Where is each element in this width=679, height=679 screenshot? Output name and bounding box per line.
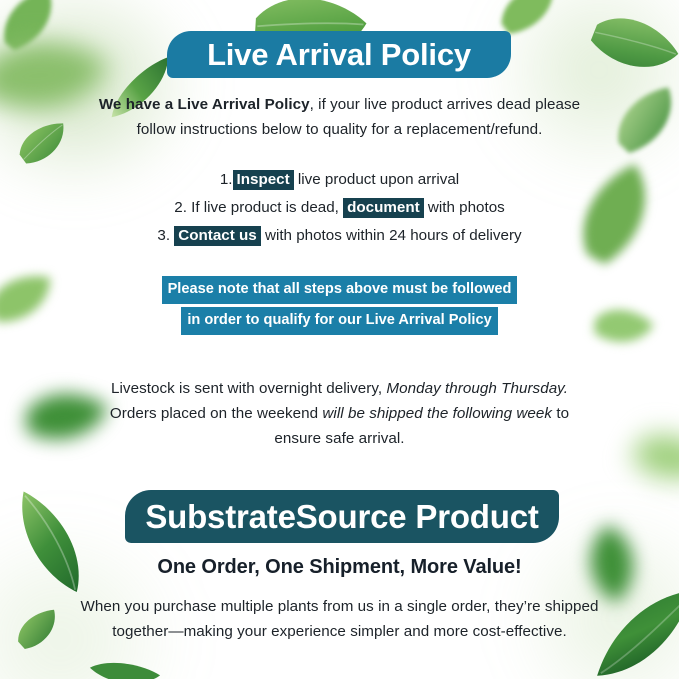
live-arrival-policy-infographic: Live Arrival Policy We have a Live Arriv… bbox=[0, 0, 679, 679]
policy-note-row: in order to qualify for our Live Arrival… bbox=[0, 307, 679, 335]
step-highlight: Contact us bbox=[174, 226, 260, 246]
step-number: 3. bbox=[157, 227, 170, 244]
live-arrival-policy-banner: Live Arrival Policy bbox=[167, 31, 511, 78]
list-item: 3. Contact us with photos within 24 hour… bbox=[0, 222, 679, 250]
value-tagline: One Order, One Shipment, More Value! bbox=[0, 556, 679, 579]
shipping-line1-italic: Monday through Thursday. bbox=[386, 380, 568, 397]
step-number: 1. bbox=[220, 171, 233, 188]
step-after: with photos within 24 hours of delivery bbox=[261, 227, 522, 244]
steps-list: 1.Inspect live product upon arrival 2. I… bbox=[0, 166, 679, 250]
substratesource-product-banner: SubstrateSource Product bbox=[125, 490, 559, 543]
policy-note-row: Please note that all steps above must be… bbox=[0, 276, 679, 304]
shipping-line2-plain: Orders placed on the weekend bbox=[110, 405, 323, 422]
policy-note-line-2: in order to qualify for our Live Arrival… bbox=[181, 307, 497, 335]
step-before: If live product is dead, bbox=[187, 199, 343, 216]
step-number: 2. bbox=[174, 199, 187, 216]
list-item: 2. If live product is dead, document wit… bbox=[0, 194, 679, 222]
step-highlight: Inspect bbox=[233, 170, 294, 190]
list-item: 1.Inspect live product upon arrival bbox=[0, 166, 679, 194]
intro-paragraph: We have a Live Arrival Policy, if your l… bbox=[0, 92, 679, 142]
policy-note-line-1: Please note that all steps above must be… bbox=[162, 276, 518, 304]
intro-bold-lead: We have a Live Arrival Policy bbox=[99, 96, 310, 113]
step-after: with photos bbox=[424, 199, 505, 216]
step-highlight: document bbox=[343, 198, 424, 218]
step-after: live product upon arrival bbox=[294, 171, 459, 188]
shipping-line1-plain: Livestock is sent with overnight deliver… bbox=[111, 380, 386, 397]
shipping-paragraph: Livestock is sent with overnight deliver… bbox=[0, 376, 679, 451]
closing-paragraph: When you purchase multiple plants from u… bbox=[0, 594, 679, 644]
policy-note: Please note that all steps above must be… bbox=[0, 276, 679, 338]
shipping-line2-italic: will be shipped the following week bbox=[322, 405, 552, 422]
